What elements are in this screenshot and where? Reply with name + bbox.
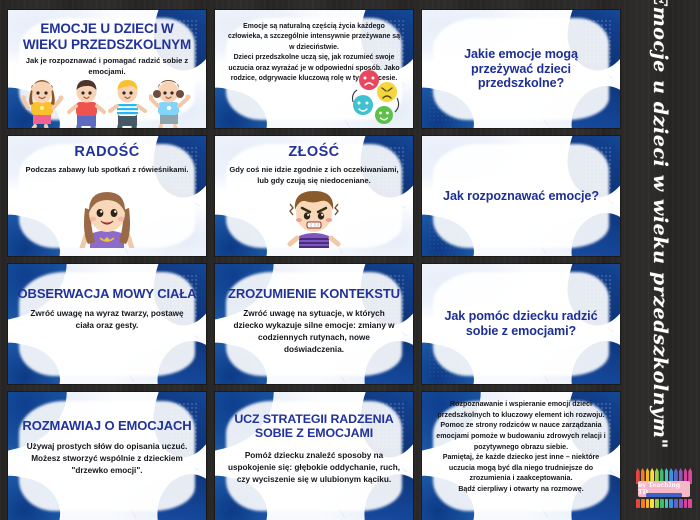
slide-question: Jakie emocje mogą przeżywać dzieci przed… <box>431 47 611 91</box>
slide-title: UCZ STRATEGII RADZENIA SOBIE Z EMOCJAMI <box>224 412 404 441</box>
four-children-illustration <box>17 78 197 128</box>
angry-boy-illustration <box>277 186 351 248</box>
slide-joy[interactable]: RADOŚĆ Podczas zabawy lub spotkań z rówi… <box>8 136 206 256</box>
slide-body: Zwróć uwagę na wyraz twarzy, postawę cia… <box>17 308 197 332</box>
slide-intro-text[interactable]: Emocje są naturalną częścią życia każdeg… <box>215 10 413 128</box>
slide-title: OBSERWACJA MOWY CIAŁA <box>17 286 197 301</box>
slide-body: Używaj prostych słów do opisania uczuć. … <box>17 441 197 477</box>
slide-anger[interactable]: ZŁOŚĆ Gdy coś nie idzie zgodnie z ich oc… <box>215 136 413 256</box>
slide-deck: EMOCJE U DZIECI W WIEKU PRZEDSZKOLNYM Ja… <box>8 10 620 513</box>
side-title-text: "Emocje u dzieci w wieku przedszkolnym" <box>649 0 671 449</box>
slide-question: Jak rozpoznawać emocje? <box>435 189 607 204</box>
slide-summary[interactable]: Rozpoznawanie i wspieranie emocji dzieci… <box>422 392 620 520</box>
slide-intro[interactable]: EMOCJE U DZIECI W WIEKU PRZEDSZKOLNYM Ja… <box>8 10 206 128</box>
brand-logo[interactable]: by Teaching TD <box>636 468 692 508</box>
logo-bar <box>646 493 682 497</box>
slide-subtitle: Jak je rozpoznawać i pomagać radzić sobi… <box>17 56 197 78</box>
slide-body: Rozpoznawanie i wspieranie emocji dzieci… <box>430 399 612 495</box>
slide-body: Pomóż dziecku znaleźć sposoby na uspokoj… <box>224 450 404 486</box>
slide-body: Podczas zabawy lub spotkań z rówieśnikam… <box>17 165 197 176</box>
emoji-faces-illustration <box>339 68 407 124</box>
slide-title: RADOŚĆ <box>17 144 197 161</box>
slide-body-language[interactable]: OBSERWACJA MOWY CIAŁA Zwróć uwagę na wyr… <box>8 264 206 384</box>
slide-title: EMOCJE U DZIECI W WIEKU PRZEDSZKOLNYM <box>17 21 197 52</box>
child-figure <box>22 78 66 128</box>
crayon-row-bottom <box>636 499 692 508</box>
slide-strategies[interactable]: UCZ STRATEGII RADZENIA SOBIE Z EMOCJAMI … <box>215 392 413 520</box>
happy-girl-illustration <box>70 186 144 248</box>
slide-talk[interactable]: ROZMAWIAJ O EMOCJACH Używaj prostych słó… <box>8 392 206 520</box>
child-figure <box>67 78 107 128</box>
slide-title: ROZMAWIAJ O EMOCJACH <box>17 418 197 433</box>
slide-question-help[interactable]: Jak pomóc dziecku radzić sobie z emocjam… <box>422 264 620 384</box>
side-handwritten-title: "Emocje u dzieci w wieku przedszkolnym" <box>620 0 700 430</box>
slide-question: Jak pomóc dziecku radzić sobie z emocjam… <box>431 309 611 338</box>
slide-question-emotions[interactable]: Jakie emocje mogą przeżywać dzieci przed… <box>422 10 620 128</box>
slide-body: Zwróć uwagę na sytuacje, w których dziec… <box>224 308 404 356</box>
slide-title: ZŁOŚĆ <box>224 144 404 161</box>
slide-body: Gdy coś nie idzie zgodnie z ich oczekiwa… <box>224 165 404 187</box>
slide-title: ZROZUMIENIE KONTEKSTU <box>224 286 404 301</box>
slide-question-recognize[interactable]: Jak rozpoznawać emocje? <box>422 136 620 256</box>
child-figure <box>149 78 193 128</box>
slide-context[interactable]: ZROZUMIENIE KONTEKSTU Zwróć uwagę na syt… <box>215 264 413 384</box>
child-figure <box>108 78 148 128</box>
